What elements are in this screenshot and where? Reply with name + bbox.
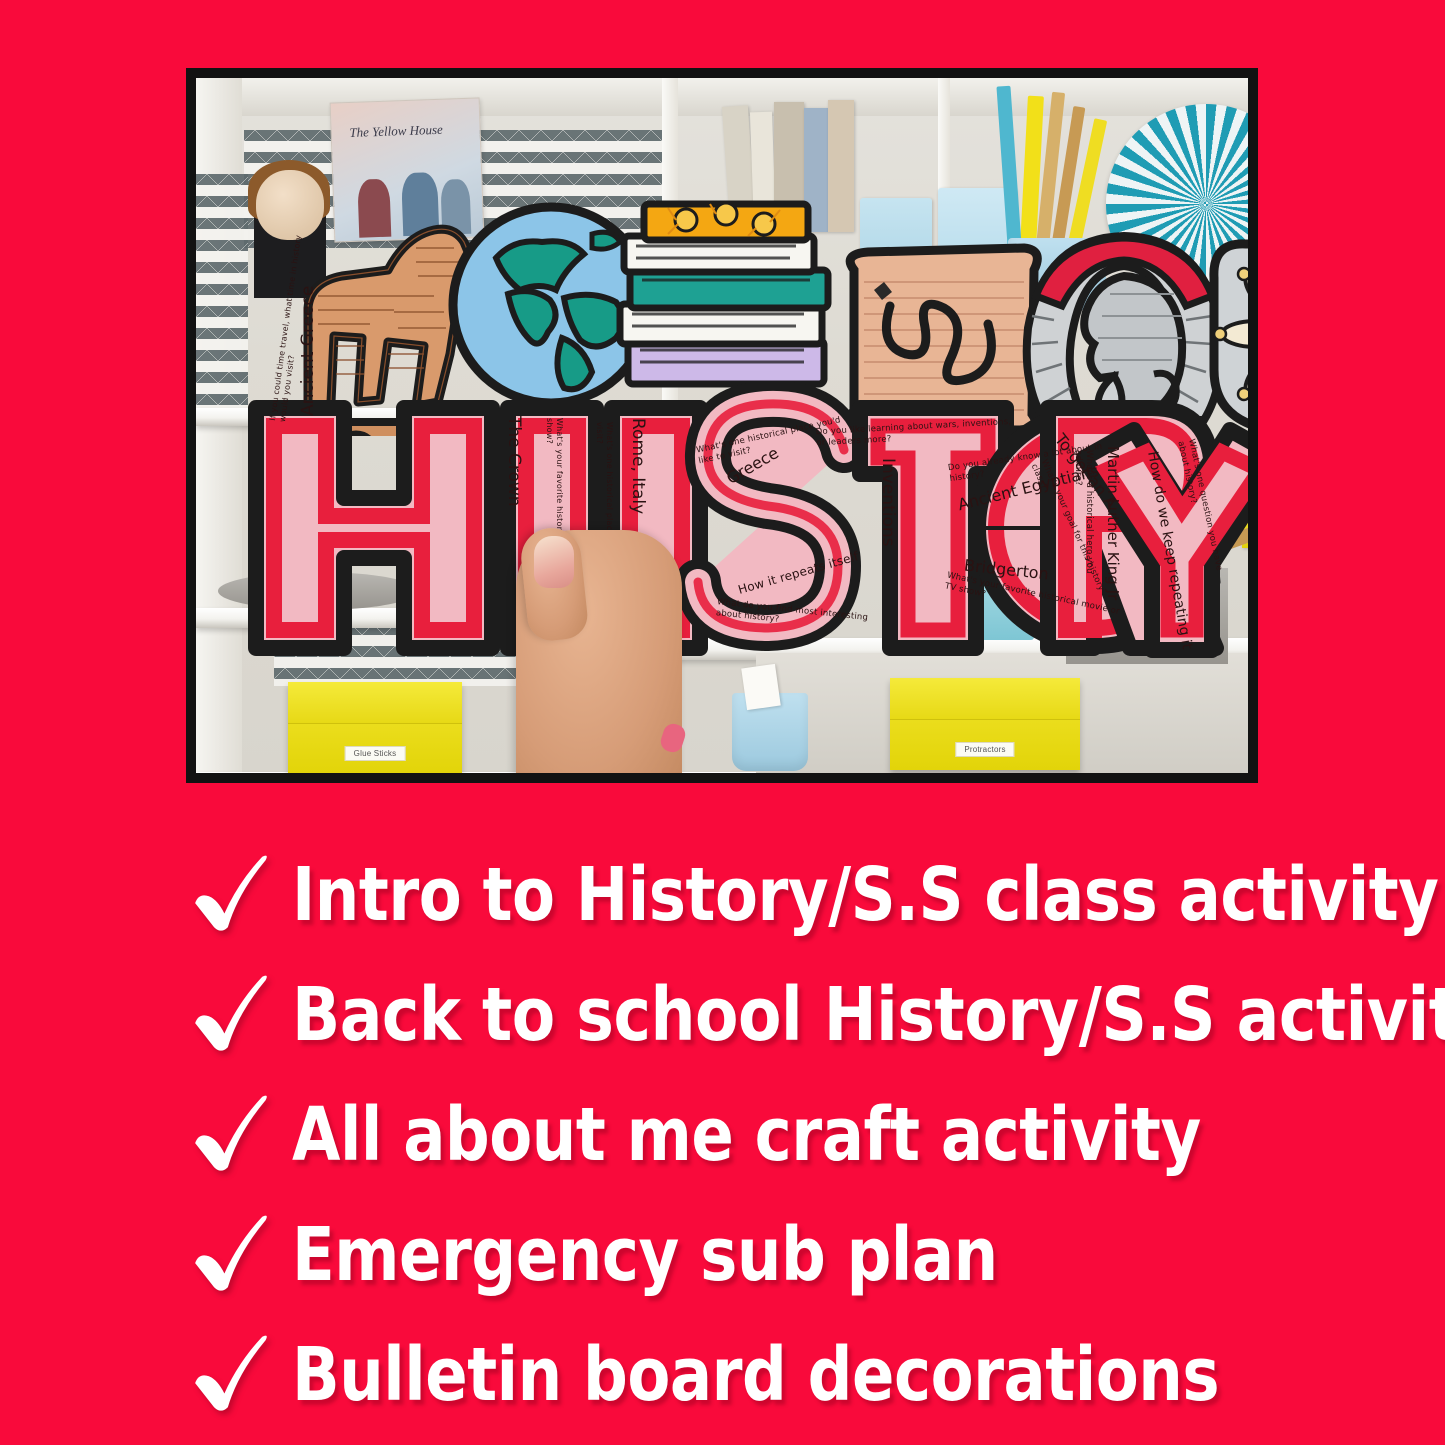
checklist-item: Back to school History/S.S activity	[0, 958, 1445, 1078]
checklist-item-label: All about me craft activity	[292, 1098, 1201, 1172]
letter-H	[256, 408, 492, 648]
checklist-item-label: Back to school History/S.S activity	[292, 978, 1445, 1052]
check-mark-icon	[190, 1093, 276, 1179]
protractors-box-label: Protractors	[955, 742, 1014, 757]
glue-sticks-box-label: Glue Sticks	[345, 746, 406, 761]
glue-sticks-box-lid	[288, 682, 462, 724]
thumb-nail	[534, 536, 574, 588]
book-stack-topper	[614, 200, 844, 400]
protractors-box-lid	[890, 678, 1080, 720]
check-mark-icon	[190, 853, 276, 939]
glue-sticks-box: Glue Sticks	[288, 682, 462, 773]
product-photo-frame: The Yellow House	[186, 68, 1258, 783]
check-mark-icon	[190, 1213, 276, 1299]
checklist-item: Bulletin board decorations	[0, 1318, 1445, 1438]
checklist-item: Intro to History/S.S class activity	[0, 838, 1445, 958]
feature-checklist: Intro to History/S.S class activity Back…	[0, 838, 1445, 1438]
checklist-item: All about me craft activity	[0, 1078, 1445, 1198]
checklist-item-label: Emergency sub plan	[292, 1218, 998, 1292]
poster-title: The Yellow House	[349, 122, 443, 141]
check-mark-icon	[190, 1333, 276, 1419]
checklist-item-label: Intro to History/S.S class activity	[292, 858, 1438, 932]
checklist-item: Emergency sub plan	[0, 1198, 1445, 1318]
protractors-box: Protractors	[890, 678, 1080, 770]
check-mark-icon	[190, 973, 276, 1059]
checklist-item-label: Bulletin board decorations	[292, 1338, 1219, 1412]
product-photo: The Yellow House	[196, 78, 1248, 773]
